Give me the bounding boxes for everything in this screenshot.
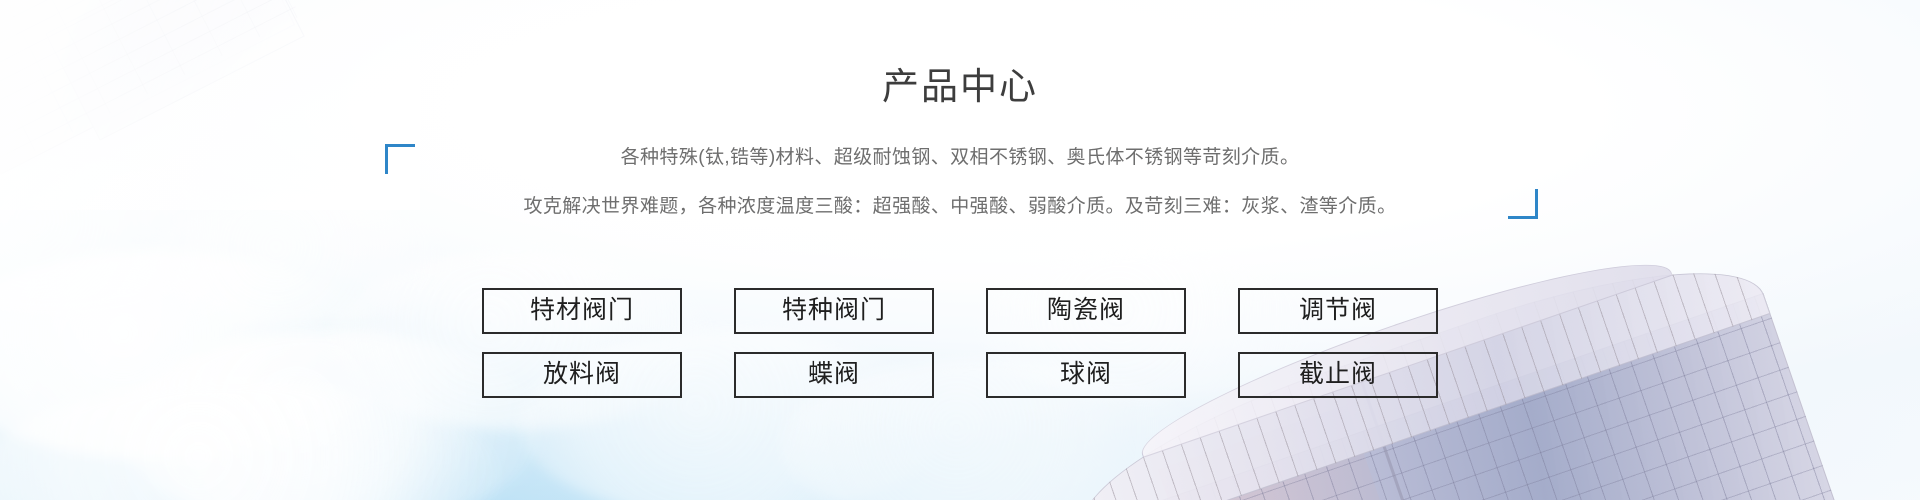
category-button-techai-valve[interactable]: 特材阀门 <box>482 288 682 334</box>
category-button-globe-valve[interactable]: 截止阀 <box>1238 352 1438 398</box>
category-button-ball-valve[interactable]: 球阀 <box>986 352 1186 398</box>
category-button-ceramic-valve[interactable]: 陶瓷阀 <box>986 288 1186 334</box>
description-line-1: 各种特殊(钛,锆等)材料、超级耐蚀钢、双相不锈钢、奥氏体不锈钢等苛刻介质。 <box>0 148 1920 167</box>
category-button-butterfly-valve[interactable]: 蝶阀 <box>734 352 934 398</box>
category-button-special-valve[interactable]: 特种阀门 <box>734 288 934 334</box>
category-button-control-valve[interactable]: 调节阀 <box>1238 288 1438 334</box>
description-line-2: 攻克解决世界难题，各种浓度温度三酸：超强酸、中强酸、弱酸介质。及苛刻三难：灰浆、… <box>0 197 1920 216</box>
product-center-banner: 产品中心 各种特殊(钛,锆等)材料、超级耐蚀钢、双相不锈钢、奥氏体不锈钢等苛刻介… <box>0 0 1920 500</box>
category-button-discharge-valve[interactable]: 放料阀 <box>482 352 682 398</box>
product-category-grid: 特材阀门 特种阀门 陶瓷阀 调节阀 放料阀 蝶阀 球阀 截止阀 <box>482 288 1438 398</box>
description-block: 各种特殊(钛,锆等)材料、超级耐蚀钢、双相不锈钢、奥氏体不锈钢等苛刻介质。 攻克… <box>0 148 1920 216</box>
page-title: 产品中心 <box>0 56 1920 110</box>
banner-content: 产品中心 各种特殊(钛,锆等)材料、超级耐蚀钢、双相不锈钢、奥氏体不锈钢等苛刻介… <box>0 0 1920 500</box>
